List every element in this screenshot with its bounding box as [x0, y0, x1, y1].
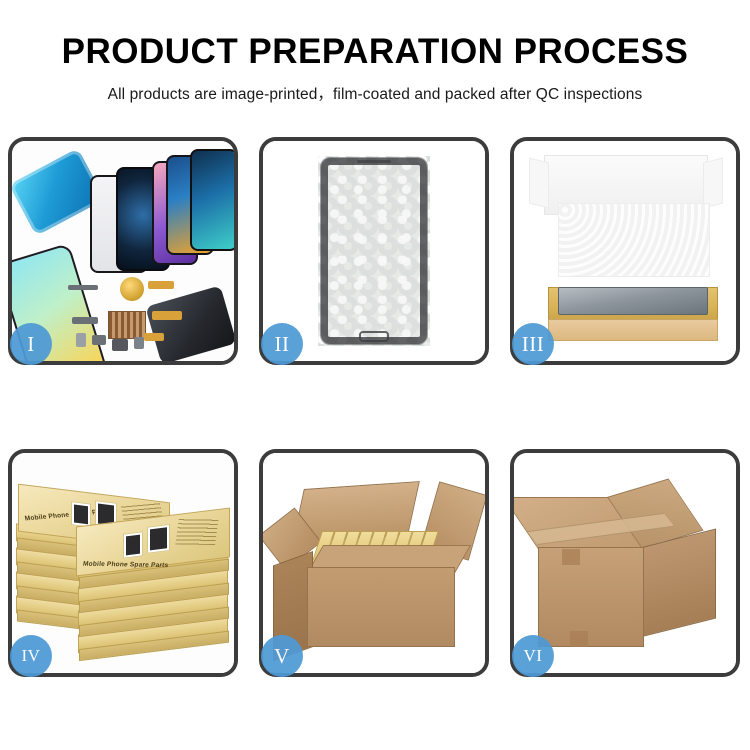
phone-front-glass [321, 158, 427, 344]
carton-front [307, 567, 455, 647]
header: PRODUCT PREPARATION PROCESS All products… [0, 0, 750, 104]
kraft-box-front [548, 319, 718, 341]
bubble-wrap-sheet [318, 156, 430, 346]
part-clip [92, 335, 106, 345]
step-panel-4: Mobile Phone Spare Parts Mobile Phone Sp… [8, 449, 238, 677]
lid-phone-image-a1 [71, 501, 91, 527]
sealed-carton-front [538, 547, 644, 647]
step-panel-1: I [8, 137, 238, 365]
foam-padding [558, 203, 710, 277]
part-sim-tray [134, 337, 144, 349]
step-badge-2: II [261, 323, 303, 365]
step-panel-2: II [259, 137, 489, 365]
sealed-carton-side [642, 529, 716, 637]
lid-checklist-b [175, 518, 218, 545]
flex-cable-top [148, 281, 174, 289]
box-label-text-2: Mobile Phone Spare Parts [83, 561, 169, 570]
step-badge-4: IV [10, 635, 52, 677]
phone-teal [190, 149, 234, 251]
packed-screen [558, 287, 708, 315]
gold-box-stack: Mobile Phone Spare Parts Mobile Phone Sp… [16, 475, 230, 651]
step-badge-3: III [512, 323, 554, 365]
flex-cable-low [144, 333, 164, 341]
part-bracket [72, 317, 98, 324]
lid-phone-image-b2 [147, 524, 170, 554]
carton-tab-lower [570, 631, 588, 647]
step-badge-1: I [10, 323, 52, 365]
part-camera [112, 339, 128, 351]
chip-grid-part [108, 311, 146, 339]
page-title: PRODUCT PREPARATION PROCESS [0, 34, 750, 69]
step-badge-6: VI [512, 635, 554, 677]
steps-grid: I II III [8, 137, 742, 677]
part-strip [68, 285, 98, 290]
step-badge-5: V [261, 635, 303, 677]
lid-phone-image-b1 [123, 531, 143, 558]
step-panel-5: V [259, 449, 489, 677]
step-panel-3: III [510, 137, 740, 365]
product-preparation-infographic: PRODUCT PREPARATION PROCESS All products… [0, 0, 750, 750]
step-panel-6: VI [510, 449, 740, 677]
page-subtitle: All products are image-printed，film-coat… [0, 82, 750, 104]
part-button [76, 333, 86, 347]
speaker-coil-part [120, 277, 144, 301]
carton-tab-upper [562, 549, 580, 565]
spare-parts-cluster [68, 277, 218, 355]
flex-cable-mid [152, 311, 182, 320]
